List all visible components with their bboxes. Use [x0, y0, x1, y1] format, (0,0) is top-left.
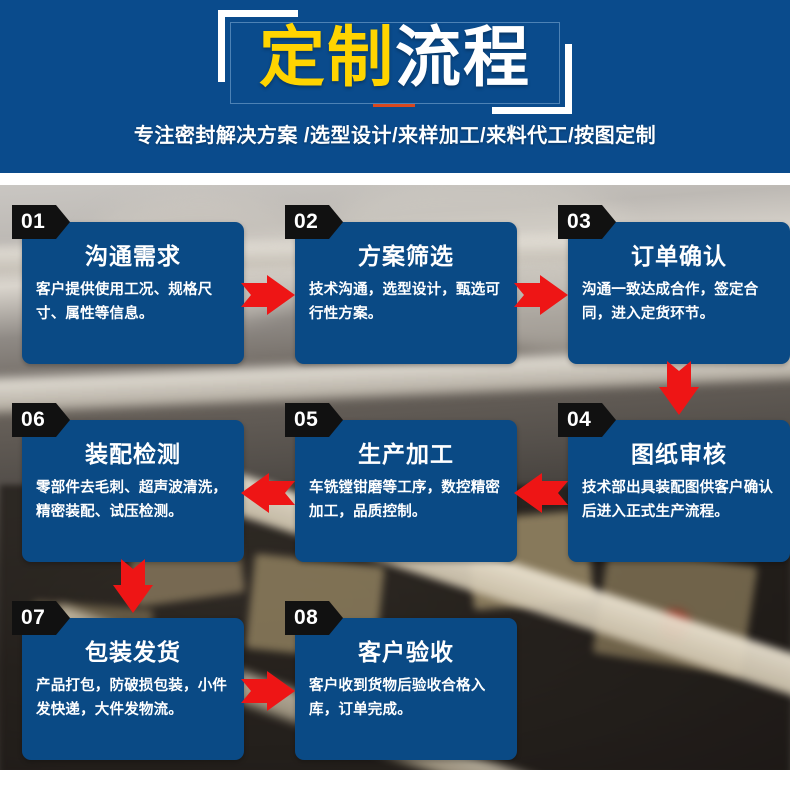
step-body-08: 客户收到货物后验收合格入库，订单完成。	[309, 674, 503, 722]
step-title-04: 图纸审核	[568, 439, 790, 469]
step-body-01: 客户提供使用工况、规格尺寸、属性等信息。	[36, 278, 230, 326]
page-title-highlight: 定制	[259, 20, 395, 94]
bottom-white-strip	[0, 770, 790, 792]
process-flow-section: 01 沟通需求 客户提供使用工况、规格尺寸、属性等信息。 02 方案筛选 技术沟…	[0, 185, 790, 770]
page-subtitle: 专注密封解决方案 /选型设计/来样加工/来料代工/按图定制	[0, 120, 790, 152]
step-card-04[interactable]: 图纸审核 技术部出具装配图供客户确认后进入正式生产流程。	[568, 420, 790, 562]
page-root: 定制流程 专注密封解决方案 /选型设计/来样加工/来料代工/按图定制	[0, 0, 790, 792]
step-body-07: 产品打包，防破损包装，小件发快递，大件发物流。	[36, 674, 230, 722]
step-title-08: 客户验收	[295, 637, 517, 667]
step-card-05[interactable]: 生产加工 车铣镗钳磨等工序，数控精密加工，品质控制。	[295, 420, 517, 562]
step-title-03: 订单确认	[568, 241, 790, 271]
step-card-02[interactable]: 方案筛选 技术沟通，选型设计，甄选可行性方案。	[295, 222, 517, 364]
step-card-08[interactable]: 客户验收 客户收到货物后验收合格入库，订单完成。	[295, 618, 517, 760]
step-card-06[interactable]: 装配检测 零部件去毛刺、超声波清洗，精密装配、试压检测。	[22, 420, 244, 562]
step-title-06: 装配检测	[22, 439, 244, 469]
step-title-05: 生产加工	[295, 439, 517, 469]
step-title-01: 沟通需求	[22, 241, 244, 271]
step-title-02: 方案筛选	[295, 241, 517, 271]
step-card-07[interactable]: 包装发货 产品打包，防破损包装，小件发快递，大件发物流。	[22, 618, 244, 760]
step-title-07: 包装发货	[22, 637, 244, 667]
header-banner: 定制流程 专注密封解决方案 /选型设计/来样加工/来料代工/按图定制	[0, 0, 790, 173]
step-card-01[interactable]: 沟通需求 客户提供使用工况、规格尺寸、属性等信息。	[22, 222, 244, 364]
step-body-05: 车铣镗钳磨等工序，数控精密加工，品质控制。	[309, 476, 503, 524]
step-card-03[interactable]: 订单确认 沟通一致达成合作，签定合同，进入定货环节。	[568, 222, 790, 364]
step-body-06: 零部件去毛刺、超声波清洗，精密装配、试压检测。	[36, 476, 230, 524]
step-body-04: 技术部出具装配图供客户确认后进入正式生产流程。	[582, 476, 776, 524]
step-body-02: 技术沟通，选型设计，甄选可行性方案。	[309, 278, 503, 326]
step-body-03: 沟通一致达成合作，签定合同，进入定货环节。	[582, 278, 776, 326]
title-underline-accent	[373, 104, 415, 107]
page-title: 定制流程	[0, 16, 790, 98]
page-title-rest: 流程	[395, 20, 531, 94]
